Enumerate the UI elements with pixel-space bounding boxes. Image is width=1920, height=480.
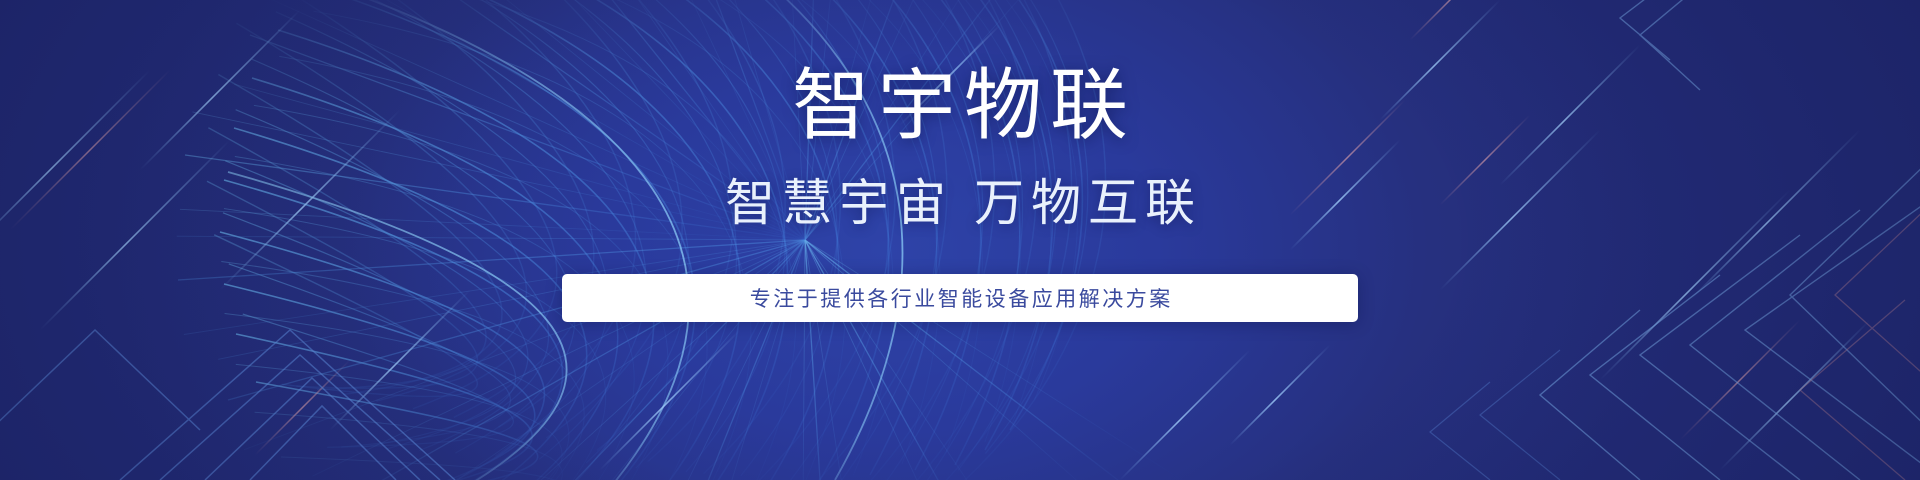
tagline-bar: 专注于提供各行业智能设备应用解决方案 bbox=[562, 274, 1358, 322]
page-title: 智宇物联 bbox=[784, 66, 1136, 144]
banner-content: 智宇物联 智慧宇宙 万物互联 专注于提供各行业智能设备应用解决方案 bbox=[0, 0, 1920, 480]
tagline-text: 专注于提供各行业智能设备应用解决方案 bbox=[747, 283, 1173, 313]
page-subtitle: 智慧宇宙 万物互联 bbox=[718, 178, 1202, 228]
hero-banner: 智宇物联 智慧宇宙 万物互联 专注于提供各行业智能设备应用解决方案 bbox=[0, 0, 1920, 480]
